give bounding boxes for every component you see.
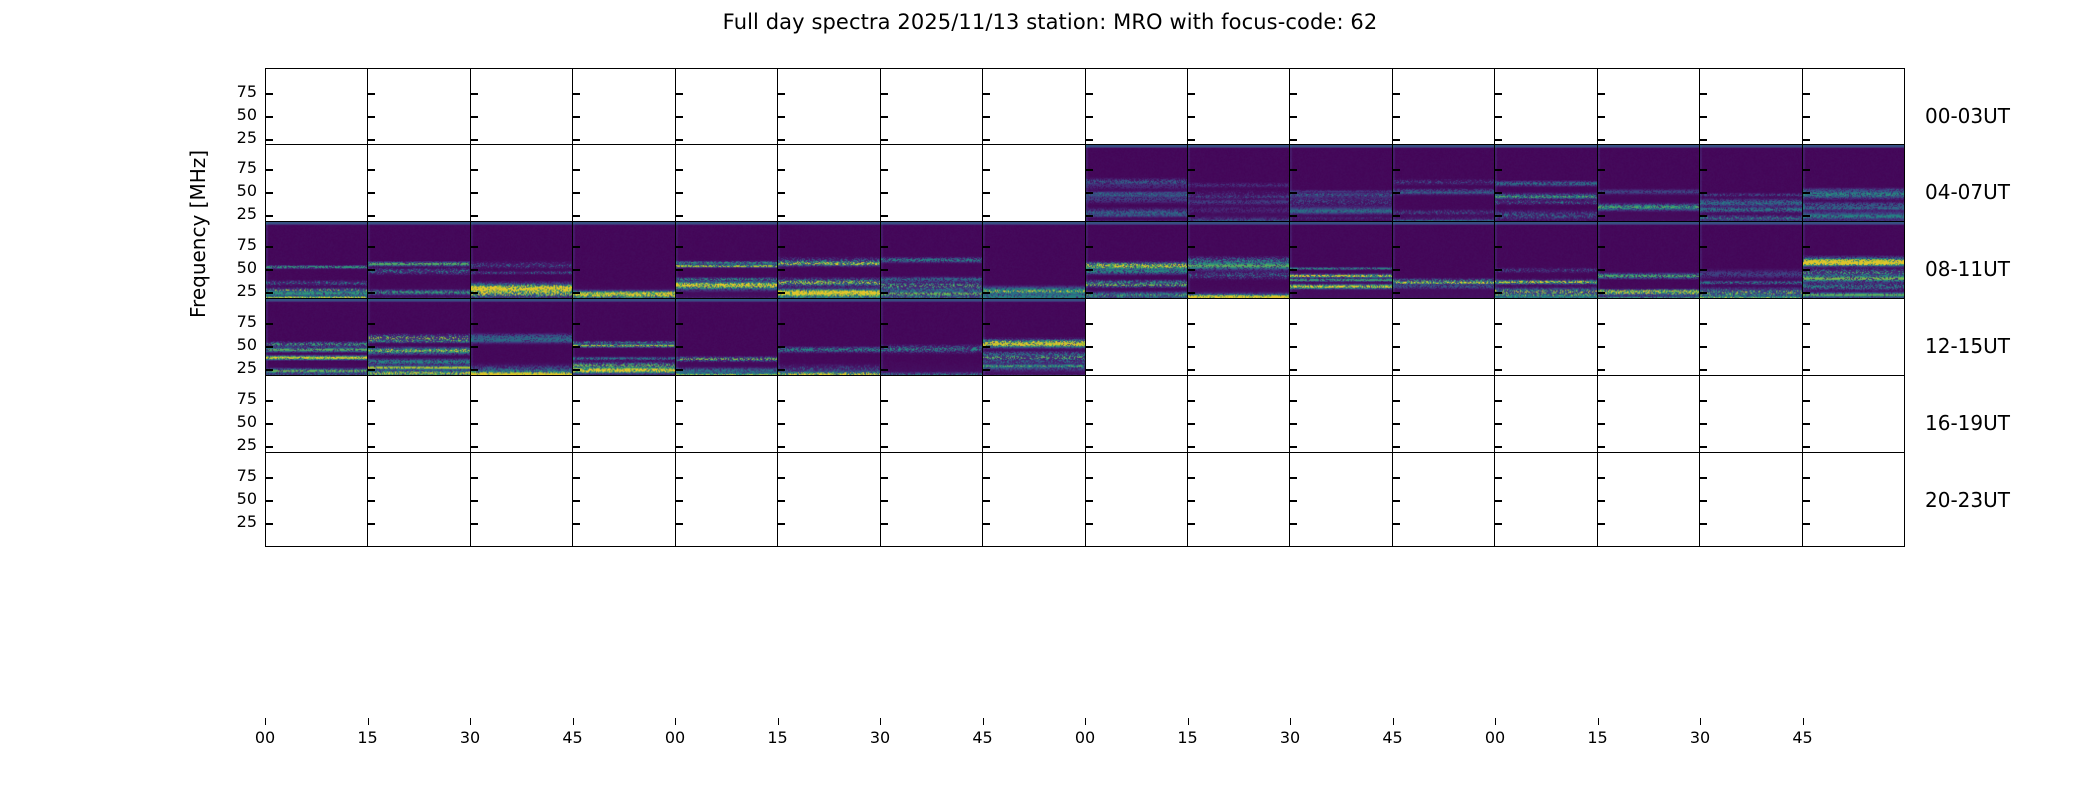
y-tick-mark bbox=[1598, 500, 1605, 502]
y-tick-mark bbox=[1188, 292, 1195, 294]
x-tick-label: 45 bbox=[1792, 728, 1812, 747]
y-tick-mark bbox=[1700, 323, 1707, 325]
spectrogram-panel bbox=[1495, 453, 1597, 546]
row-time-label: 20-23UT bbox=[1925, 488, 2010, 512]
y-tick-mark bbox=[983, 369, 990, 371]
y-tick-mark bbox=[1700, 369, 1707, 371]
y-tick-mark bbox=[676, 423, 683, 425]
x-tick-mark bbox=[1803, 718, 1804, 725]
y-tick-mark bbox=[1188, 446, 1195, 448]
y-tick-mark bbox=[1598, 246, 1605, 248]
y-tick-mark bbox=[573, 269, 580, 271]
x-tick-label: 45 bbox=[562, 728, 582, 747]
panel-fill bbox=[266, 453, 367, 546]
y-tick-mark bbox=[1290, 215, 1297, 217]
y-tick-mark bbox=[1393, 523, 1400, 525]
y-tick-mark bbox=[676, 477, 683, 479]
y-tick-label: 50 bbox=[211, 183, 257, 199]
y-tick-mark bbox=[778, 192, 785, 194]
y-tick-mark bbox=[573, 192, 580, 194]
y-tick-mark bbox=[1086, 269, 1093, 271]
y-tick-mark bbox=[266, 93, 273, 95]
y-tick-mark bbox=[983, 423, 990, 425]
y-tick-mark bbox=[1393, 477, 1400, 479]
y-tick-mark bbox=[471, 523, 478, 525]
y-tick-mark bbox=[778, 139, 785, 141]
y-tick-label: 25 bbox=[211, 514, 257, 530]
x-tick-mark bbox=[983, 718, 984, 725]
y-tick-mark bbox=[881, 269, 888, 271]
y-tick-mark bbox=[1393, 246, 1400, 248]
y-tick-mark bbox=[881, 500, 888, 502]
y-tick-mark bbox=[1495, 169, 1502, 171]
x-tick-mark bbox=[368, 718, 369, 725]
y-tick-mark bbox=[676, 446, 683, 448]
y-tick-mark bbox=[368, 523, 375, 525]
y-tick-mark bbox=[1495, 246, 1502, 248]
y-tick-mark bbox=[1803, 446, 1810, 448]
x-tick-mark bbox=[1598, 718, 1599, 725]
y-tick-mark bbox=[1393, 292, 1400, 294]
y-tick-mark bbox=[1700, 215, 1707, 217]
y-tick-mark bbox=[471, 400, 478, 402]
figure-title: Full day spectra 2025/11/13 station: MRO… bbox=[0, 10, 2100, 34]
y-tick-mark bbox=[1393, 323, 1400, 325]
y-tick-mark bbox=[881, 116, 888, 118]
y-tick-mark bbox=[471, 246, 478, 248]
y-tick-mark bbox=[266, 169, 273, 171]
y-tick-mark bbox=[368, 192, 375, 194]
y-tick-mark bbox=[471, 139, 478, 141]
y-tick-mark bbox=[1290, 269, 1297, 271]
panel-fill bbox=[471, 453, 572, 546]
y-tick-mark bbox=[368, 346, 375, 348]
y-tick-mark bbox=[1086, 369, 1093, 371]
y-tick-mark bbox=[983, 139, 990, 141]
y-tick-mark bbox=[1803, 346, 1810, 348]
y-tick-mark bbox=[266, 400, 273, 402]
y-tick-mark bbox=[778, 116, 785, 118]
spectrogram-panel bbox=[368, 453, 470, 546]
panel-fill bbox=[1598, 453, 1699, 546]
spectrogram-panel bbox=[266, 453, 368, 546]
y-tick-mark bbox=[983, 400, 990, 402]
y-tick-mark bbox=[1700, 246, 1707, 248]
y-tick-mark bbox=[881, 215, 888, 217]
spectrogram-panel bbox=[1086, 453, 1188, 546]
y-tick-mark bbox=[983, 477, 990, 479]
panel-fill bbox=[1495, 453, 1596, 546]
x-tick-label: 00 bbox=[1075, 728, 1095, 747]
y-tick-mark bbox=[778, 500, 785, 502]
y-tick-mark bbox=[676, 400, 683, 402]
y-tick-mark bbox=[1495, 500, 1502, 502]
y-tick-mark bbox=[573, 139, 580, 141]
x-tick-mark bbox=[573, 718, 574, 725]
y-tick-label: 75 bbox=[211, 391, 257, 407]
y-tick-mark bbox=[676, 346, 683, 348]
y-tick-mark bbox=[1803, 192, 1810, 194]
y-tick-mark bbox=[1188, 523, 1195, 525]
y-tick-mark bbox=[1700, 292, 1707, 294]
y-tick-mark bbox=[1495, 269, 1502, 271]
y-tick-mark bbox=[1700, 139, 1707, 141]
y-tick-mark bbox=[471, 292, 478, 294]
panel-fill bbox=[1393, 453, 1494, 546]
y-tick-mark bbox=[1393, 139, 1400, 141]
y-tick-mark bbox=[1188, 192, 1195, 194]
x-tick-mark bbox=[675, 718, 676, 725]
y-tick-mark bbox=[1598, 369, 1605, 371]
y-tick-mark bbox=[1188, 246, 1195, 248]
y-tick-mark bbox=[1188, 93, 1195, 95]
y-tick-mark bbox=[778, 269, 785, 271]
spectrogram-figure: Full day spectra 2025/11/13 station: MRO… bbox=[0, 0, 2100, 800]
y-tick-mark bbox=[1086, 169, 1093, 171]
y-tick-mark bbox=[471, 369, 478, 371]
x-tick-mark bbox=[1495, 718, 1496, 725]
y-tick-mark bbox=[1393, 346, 1400, 348]
y-tick-mark bbox=[778, 215, 785, 217]
y-tick-mark bbox=[1086, 192, 1093, 194]
y-tick-mark bbox=[1598, 93, 1605, 95]
y-tick-mark bbox=[1188, 139, 1195, 141]
y-tick-mark bbox=[471, 346, 478, 348]
y-tick-mark bbox=[881, 523, 888, 525]
y-tick-mark bbox=[1188, 500, 1195, 502]
y-tick-mark bbox=[1188, 215, 1195, 217]
y-tick-label: 25 bbox=[211, 360, 257, 376]
y-tick-mark bbox=[676, 523, 683, 525]
y-tick-mark bbox=[983, 346, 990, 348]
x-tick-mark bbox=[778, 718, 779, 725]
y-tick-mark bbox=[471, 423, 478, 425]
y-tick-mark bbox=[983, 323, 990, 325]
y-tick-mark bbox=[1188, 346, 1195, 348]
y-tick-mark bbox=[1598, 477, 1605, 479]
row-time-label: 08-11UT bbox=[1925, 257, 2010, 281]
y-tick-mark bbox=[573, 215, 580, 217]
y-tick-mark bbox=[266, 500, 273, 502]
y-tick-mark bbox=[1598, 139, 1605, 141]
y-tick-mark bbox=[266, 323, 273, 325]
y-tick-mark bbox=[983, 116, 990, 118]
panel-fill bbox=[983, 453, 1084, 546]
spectrogram-panel bbox=[471, 453, 573, 546]
y-tick-mark bbox=[1803, 215, 1810, 217]
y-tick-mark bbox=[471, 215, 478, 217]
y-tick-mark bbox=[1393, 369, 1400, 371]
x-tick-mark bbox=[265, 718, 266, 725]
y-tick-label: 50 bbox=[211, 491, 257, 507]
x-tick-mark bbox=[880, 718, 881, 725]
y-tick-mark bbox=[778, 93, 785, 95]
y-tick-mark bbox=[1700, 346, 1707, 348]
y-tick-mark bbox=[1598, 423, 1605, 425]
spectrogram-panel bbox=[1188, 453, 1290, 546]
y-tick-mark bbox=[1495, 369, 1502, 371]
y-tick-mark bbox=[676, 269, 683, 271]
y-tick-mark bbox=[266, 215, 273, 217]
y-tick-mark bbox=[266, 116, 273, 118]
y-tick-mark bbox=[1495, 400, 1502, 402]
y-tick-mark bbox=[778, 477, 785, 479]
y-tick-mark bbox=[1495, 523, 1502, 525]
y-tick-mark bbox=[1495, 93, 1502, 95]
y-tick-mark bbox=[676, 116, 683, 118]
y-tick-mark bbox=[1188, 169, 1195, 171]
y-tick-mark bbox=[983, 169, 990, 171]
y-tick-mark bbox=[1803, 400, 1810, 402]
y-tick-mark bbox=[368, 500, 375, 502]
y-tick-mark bbox=[1393, 446, 1400, 448]
y-tick-mark bbox=[1803, 93, 1810, 95]
y-tick-mark bbox=[573, 423, 580, 425]
y-tick-mark bbox=[1086, 423, 1093, 425]
y-tick-mark bbox=[1700, 116, 1707, 118]
row-frame bbox=[265, 452, 1905, 547]
y-tick-mark bbox=[1700, 500, 1707, 502]
y-tick-mark bbox=[471, 500, 478, 502]
y-tick-mark bbox=[1290, 477, 1297, 479]
y-tick-mark bbox=[266, 192, 273, 194]
spectrogram-panel bbox=[1598, 453, 1700, 546]
y-tick-mark bbox=[1086, 292, 1093, 294]
y-tick-mark bbox=[1598, 269, 1605, 271]
y-tick-mark bbox=[1495, 346, 1502, 348]
spectrogram-panel bbox=[1393, 453, 1495, 546]
y-tick-label: 50 bbox=[211, 337, 257, 353]
y-tick-mark bbox=[1188, 400, 1195, 402]
y-tick-mark bbox=[778, 446, 785, 448]
y-tick-mark bbox=[778, 246, 785, 248]
y-tick-mark bbox=[573, 169, 580, 171]
y-tick-mark bbox=[1598, 323, 1605, 325]
y-tick-mark bbox=[676, 169, 683, 171]
y-tick-mark bbox=[983, 446, 990, 448]
y-tick-mark bbox=[1290, 93, 1297, 95]
y-tick-mark bbox=[573, 500, 580, 502]
y-tick-mark bbox=[1188, 477, 1195, 479]
panel-fill bbox=[676, 453, 777, 546]
x-tick-label: 15 bbox=[1587, 728, 1607, 747]
panel-fill bbox=[1803, 453, 1904, 546]
row-time-label: 16-19UT bbox=[1925, 411, 2010, 435]
y-tick-mark bbox=[1290, 169, 1297, 171]
y-tick-mark bbox=[1393, 269, 1400, 271]
y-tick-mark bbox=[471, 269, 478, 271]
y-tick-mark bbox=[983, 523, 990, 525]
y-tick-mark bbox=[676, 139, 683, 141]
y-tick-mark bbox=[881, 93, 888, 95]
y-tick-mark bbox=[881, 369, 888, 371]
y-tick-mark bbox=[1803, 369, 1810, 371]
y-tick-mark bbox=[266, 346, 273, 348]
y-tick-mark bbox=[266, 246, 273, 248]
y-tick-mark bbox=[778, 292, 785, 294]
y-tick-mark bbox=[1700, 400, 1707, 402]
y-tick-mark bbox=[266, 423, 273, 425]
panel-fill bbox=[368, 453, 469, 546]
y-tick-mark bbox=[983, 269, 990, 271]
y-tick-mark bbox=[778, 169, 785, 171]
y-tick-mark bbox=[1495, 292, 1502, 294]
y-tick-mark bbox=[1598, 169, 1605, 171]
y-tick-mark bbox=[1803, 500, 1810, 502]
y-tick-mark bbox=[1803, 269, 1810, 271]
y-tick-mark bbox=[573, 477, 580, 479]
y-tick-mark bbox=[1290, 139, 1297, 141]
y-tick-mark bbox=[1086, 93, 1093, 95]
y-tick-mark bbox=[778, 346, 785, 348]
y-tick-mark bbox=[1086, 446, 1093, 448]
y-tick-mark bbox=[573, 116, 580, 118]
x-axis: 00153045001530450015304500153045 bbox=[265, 718, 1905, 758]
y-tick-mark bbox=[471, 93, 478, 95]
spectrogram-panel bbox=[778, 453, 880, 546]
y-tick-label: 75 bbox=[211, 314, 257, 330]
y-tick-mark bbox=[471, 446, 478, 448]
y-tick-mark bbox=[1700, 423, 1707, 425]
y-tick-mark bbox=[368, 292, 375, 294]
y-tick-mark bbox=[881, 477, 888, 479]
y-tick-mark bbox=[368, 93, 375, 95]
y-tick-mark bbox=[778, 400, 785, 402]
x-tick-label: 45 bbox=[972, 728, 992, 747]
y-tick-mark bbox=[1393, 400, 1400, 402]
y-tick-mark bbox=[1700, 269, 1707, 271]
y-tick-mark bbox=[266, 292, 273, 294]
y-tick-mark bbox=[881, 139, 888, 141]
y-tick-mark bbox=[983, 93, 990, 95]
y-tick-mark bbox=[1598, 346, 1605, 348]
spectrogram-panel bbox=[1290, 453, 1392, 546]
y-tick-mark bbox=[676, 369, 683, 371]
y-tick-mark bbox=[471, 116, 478, 118]
spectrogram-panel bbox=[1803, 453, 1904, 546]
spectrogram-panel bbox=[1700, 453, 1802, 546]
y-tick-mark bbox=[368, 369, 375, 371]
y-tick-mark bbox=[676, 292, 683, 294]
y-tick-mark bbox=[1086, 323, 1093, 325]
y-tick-mark bbox=[983, 215, 990, 217]
y-tick-mark bbox=[881, 423, 888, 425]
panel-fill bbox=[573, 453, 674, 546]
y-tick-label: 25 bbox=[211, 206, 257, 222]
x-tick-mark bbox=[470, 718, 471, 725]
y-tick-mark bbox=[1086, 215, 1093, 217]
panel-strip bbox=[266, 453, 1904, 546]
y-tick-mark bbox=[1393, 116, 1400, 118]
y-tick-mark bbox=[1598, 116, 1605, 118]
y-tick-mark bbox=[1700, 169, 1707, 171]
y-tick-mark bbox=[368, 446, 375, 448]
y-tick-mark bbox=[1803, 169, 1810, 171]
y-tick-mark bbox=[1086, 116, 1093, 118]
y-tick-mark bbox=[573, 369, 580, 371]
y-tick-mark bbox=[1393, 93, 1400, 95]
y-tick-mark bbox=[368, 323, 375, 325]
y-tick-mark bbox=[1086, 523, 1093, 525]
x-tick-mark bbox=[1085, 718, 1086, 725]
y-tick-mark bbox=[1086, 139, 1093, 141]
y-tick-mark bbox=[1086, 477, 1093, 479]
y-tick-mark bbox=[266, 477, 273, 479]
y-tick-mark bbox=[573, 446, 580, 448]
y-tick-mark bbox=[1700, 192, 1707, 194]
y-tick-mark bbox=[471, 192, 478, 194]
y-tick-mark bbox=[1393, 500, 1400, 502]
y-tick-mark bbox=[1495, 423, 1502, 425]
y-tick-mark bbox=[1803, 246, 1810, 248]
x-tick-label: 00 bbox=[665, 728, 685, 747]
y-tick-mark bbox=[1290, 523, 1297, 525]
y-tick-mark bbox=[1495, 477, 1502, 479]
y-tick-mark bbox=[778, 523, 785, 525]
y-tick-label: 50 bbox=[211, 107, 257, 123]
spectrogram-row-20-23ut bbox=[265, 452, 1905, 547]
y-tick-mark bbox=[471, 323, 478, 325]
y-tick-mark bbox=[368, 139, 375, 141]
y-tick-mark bbox=[1803, 323, 1810, 325]
panel-fill bbox=[1086, 453, 1187, 546]
y-tick-mark bbox=[573, 346, 580, 348]
panel-fill bbox=[1700, 453, 1801, 546]
y-tick-mark bbox=[368, 169, 375, 171]
y-tick-mark bbox=[1700, 93, 1707, 95]
y-tick-mark bbox=[1290, 323, 1297, 325]
y-tick-label: 75 bbox=[211, 160, 257, 176]
y-tick-mark bbox=[881, 400, 888, 402]
y-tick-mark bbox=[983, 246, 990, 248]
y-tick-label: 25 bbox=[211, 437, 257, 453]
y-tick-mark bbox=[1393, 215, 1400, 217]
y-tick-mark bbox=[368, 400, 375, 402]
y-tick-mark bbox=[368, 423, 375, 425]
y-tick-mark bbox=[1803, 116, 1810, 118]
y-tick-mark bbox=[266, 369, 273, 371]
x-tick-mark bbox=[1700, 718, 1701, 725]
y-tick-mark bbox=[881, 446, 888, 448]
y-tick-label: 50 bbox=[211, 260, 257, 276]
x-tick-label: 15 bbox=[767, 728, 787, 747]
panel-fill bbox=[1188, 453, 1289, 546]
y-tick-label: 75 bbox=[211, 84, 257, 100]
y-tick-mark bbox=[1803, 523, 1810, 525]
y-tick-mark bbox=[1598, 292, 1605, 294]
y-tick-mark bbox=[1495, 192, 1502, 194]
y-tick-mark bbox=[676, 93, 683, 95]
y-tick-mark bbox=[1393, 423, 1400, 425]
y-tick-mark bbox=[1700, 477, 1707, 479]
y-tick-mark bbox=[368, 246, 375, 248]
y-tick-label: 75 bbox=[211, 237, 257, 253]
y-tick-mark bbox=[1495, 446, 1502, 448]
y-tick-mark bbox=[1495, 139, 1502, 141]
y-tick-mark bbox=[1290, 116, 1297, 118]
spectrogram-panel bbox=[881, 453, 983, 546]
y-tick-mark bbox=[881, 169, 888, 171]
y-tick-mark bbox=[573, 246, 580, 248]
y-tick-mark bbox=[1290, 246, 1297, 248]
y-tick-mark bbox=[676, 323, 683, 325]
y-tick-mark bbox=[1700, 523, 1707, 525]
x-tick-mark bbox=[1290, 718, 1291, 725]
x-tick-label: 30 bbox=[1280, 728, 1300, 747]
y-tick-mark bbox=[1188, 423, 1195, 425]
y-tick-mark bbox=[881, 246, 888, 248]
y-tick-label: 50 bbox=[211, 414, 257, 430]
